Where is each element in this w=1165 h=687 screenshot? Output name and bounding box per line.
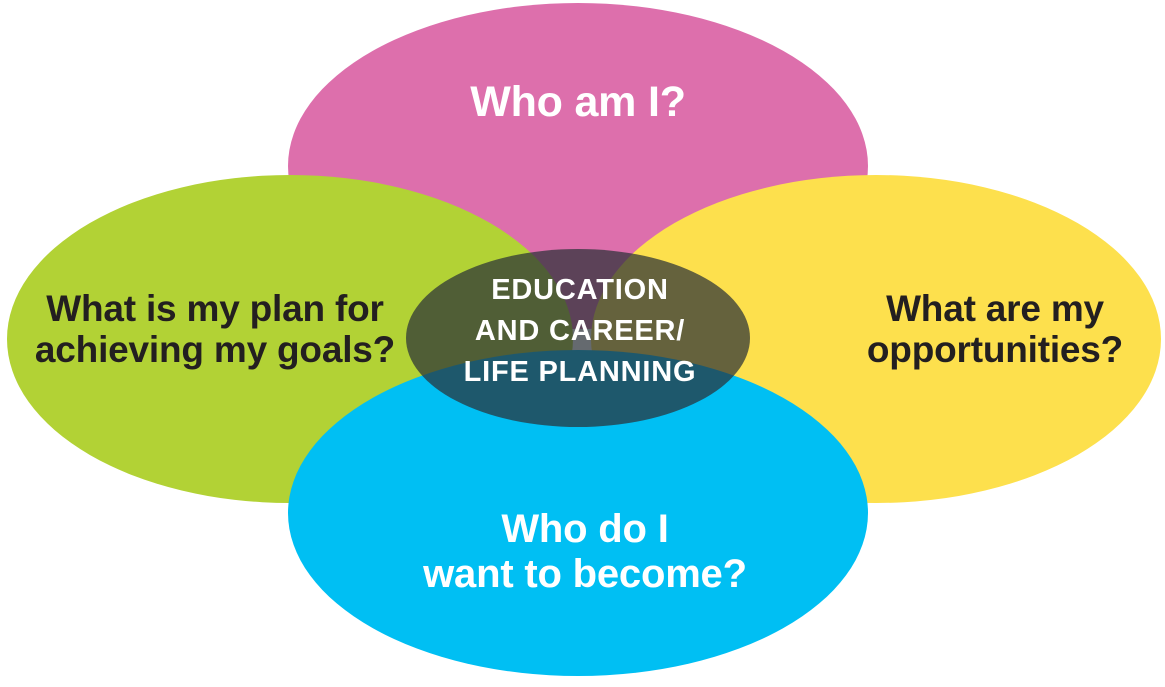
venn-shapes (0, 0, 1165, 687)
venn-diagram: Who am I? What is my plan for achieving … (0, 0, 1165, 687)
